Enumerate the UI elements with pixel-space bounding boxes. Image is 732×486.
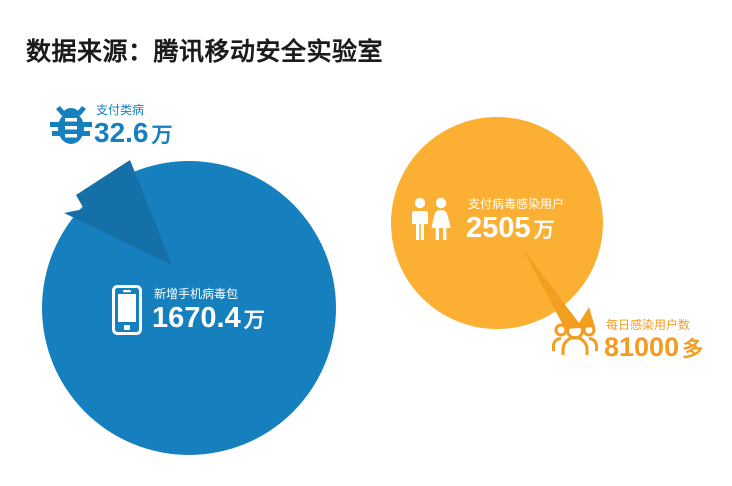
smartphone-icon	[112, 285, 142, 340]
stat-infected-users: 支付病毒感染用户 2505万	[409, 196, 564, 249]
stat-virus-packages-unit: 万	[241, 309, 265, 332]
stat-daily-infected: 每日感染用户数 81000多	[552, 318, 703, 365]
stat-payment-virus-caption: 支付类病	[96, 103, 173, 117]
stat-daily-infected-caption: 每日感染用户数	[606, 318, 703, 332]
stat-daily-infected-number: 81000	[604, 332, 679, 362]
stat-payment-virus-text: 支付类病 32.6万	[94, 103, 173, 152]
stat-daily-infected-unit: 多	[679, 338, 703, 361]
stat-virus-packages-text: 新增手机病毒包 1670.4万	[152, 287, 265, 338]
male-female-icon	[409, 196, 457, 249]
stat-payment-virus-number: 32.6	[94, 117, 149, 148]
pointer-wedge-blue	[60, 155, 190, 275]
stat-virus-packages-value: 1670.4万	[152, 301, 265, 338]
stat-payment-virus-value: 32.6万	[94, 117, 173, 152]
stat-payment-virus-unit: 万	[149, 124, 173, 147]
stat-infected-users-caption: 支付病毒感染用户	[468, 197, 564, 211]
stat-virus-packages-number: 1670.4	[152, 302, 241, 334]
stat-virus-packages: 新增手机病毒包 1670.4万	[112, 285, 265, 340]
stat-virus-packages-caption: 新增手机病毒包	[154, 287, 265, 301]
bug-icon	[50, 103, 92, 152]
user-group-icon	[552, 319, 598, 364]
stat-infected-users-text: 支付病毒感染用户 2505万	[466, 197, 564, 248]
stat-infected-users-number: 2505	[466, 212, 531, 244]
stat-infected-users-unit: 万	[531, 219, 555, 242]
stat-infected-users-value: 2505万	[466, 211, 564, 248]
stat-daily-infected-value: 81000多	[604, 332, 703, 365]
page-title: 数据来源：腾讯移动安全实验室	[26, 32, 383, 68]
stat-daily-infected-text: 每日感染用户数 81000多	[604, 318, 703, 365]
infographic-canvas: 数据来源：腾讯移动安全实验室	[0, 0, 732, 486]
stat-payment-virus: 支付类病 32.6万	[50, 103, 173, 152]
